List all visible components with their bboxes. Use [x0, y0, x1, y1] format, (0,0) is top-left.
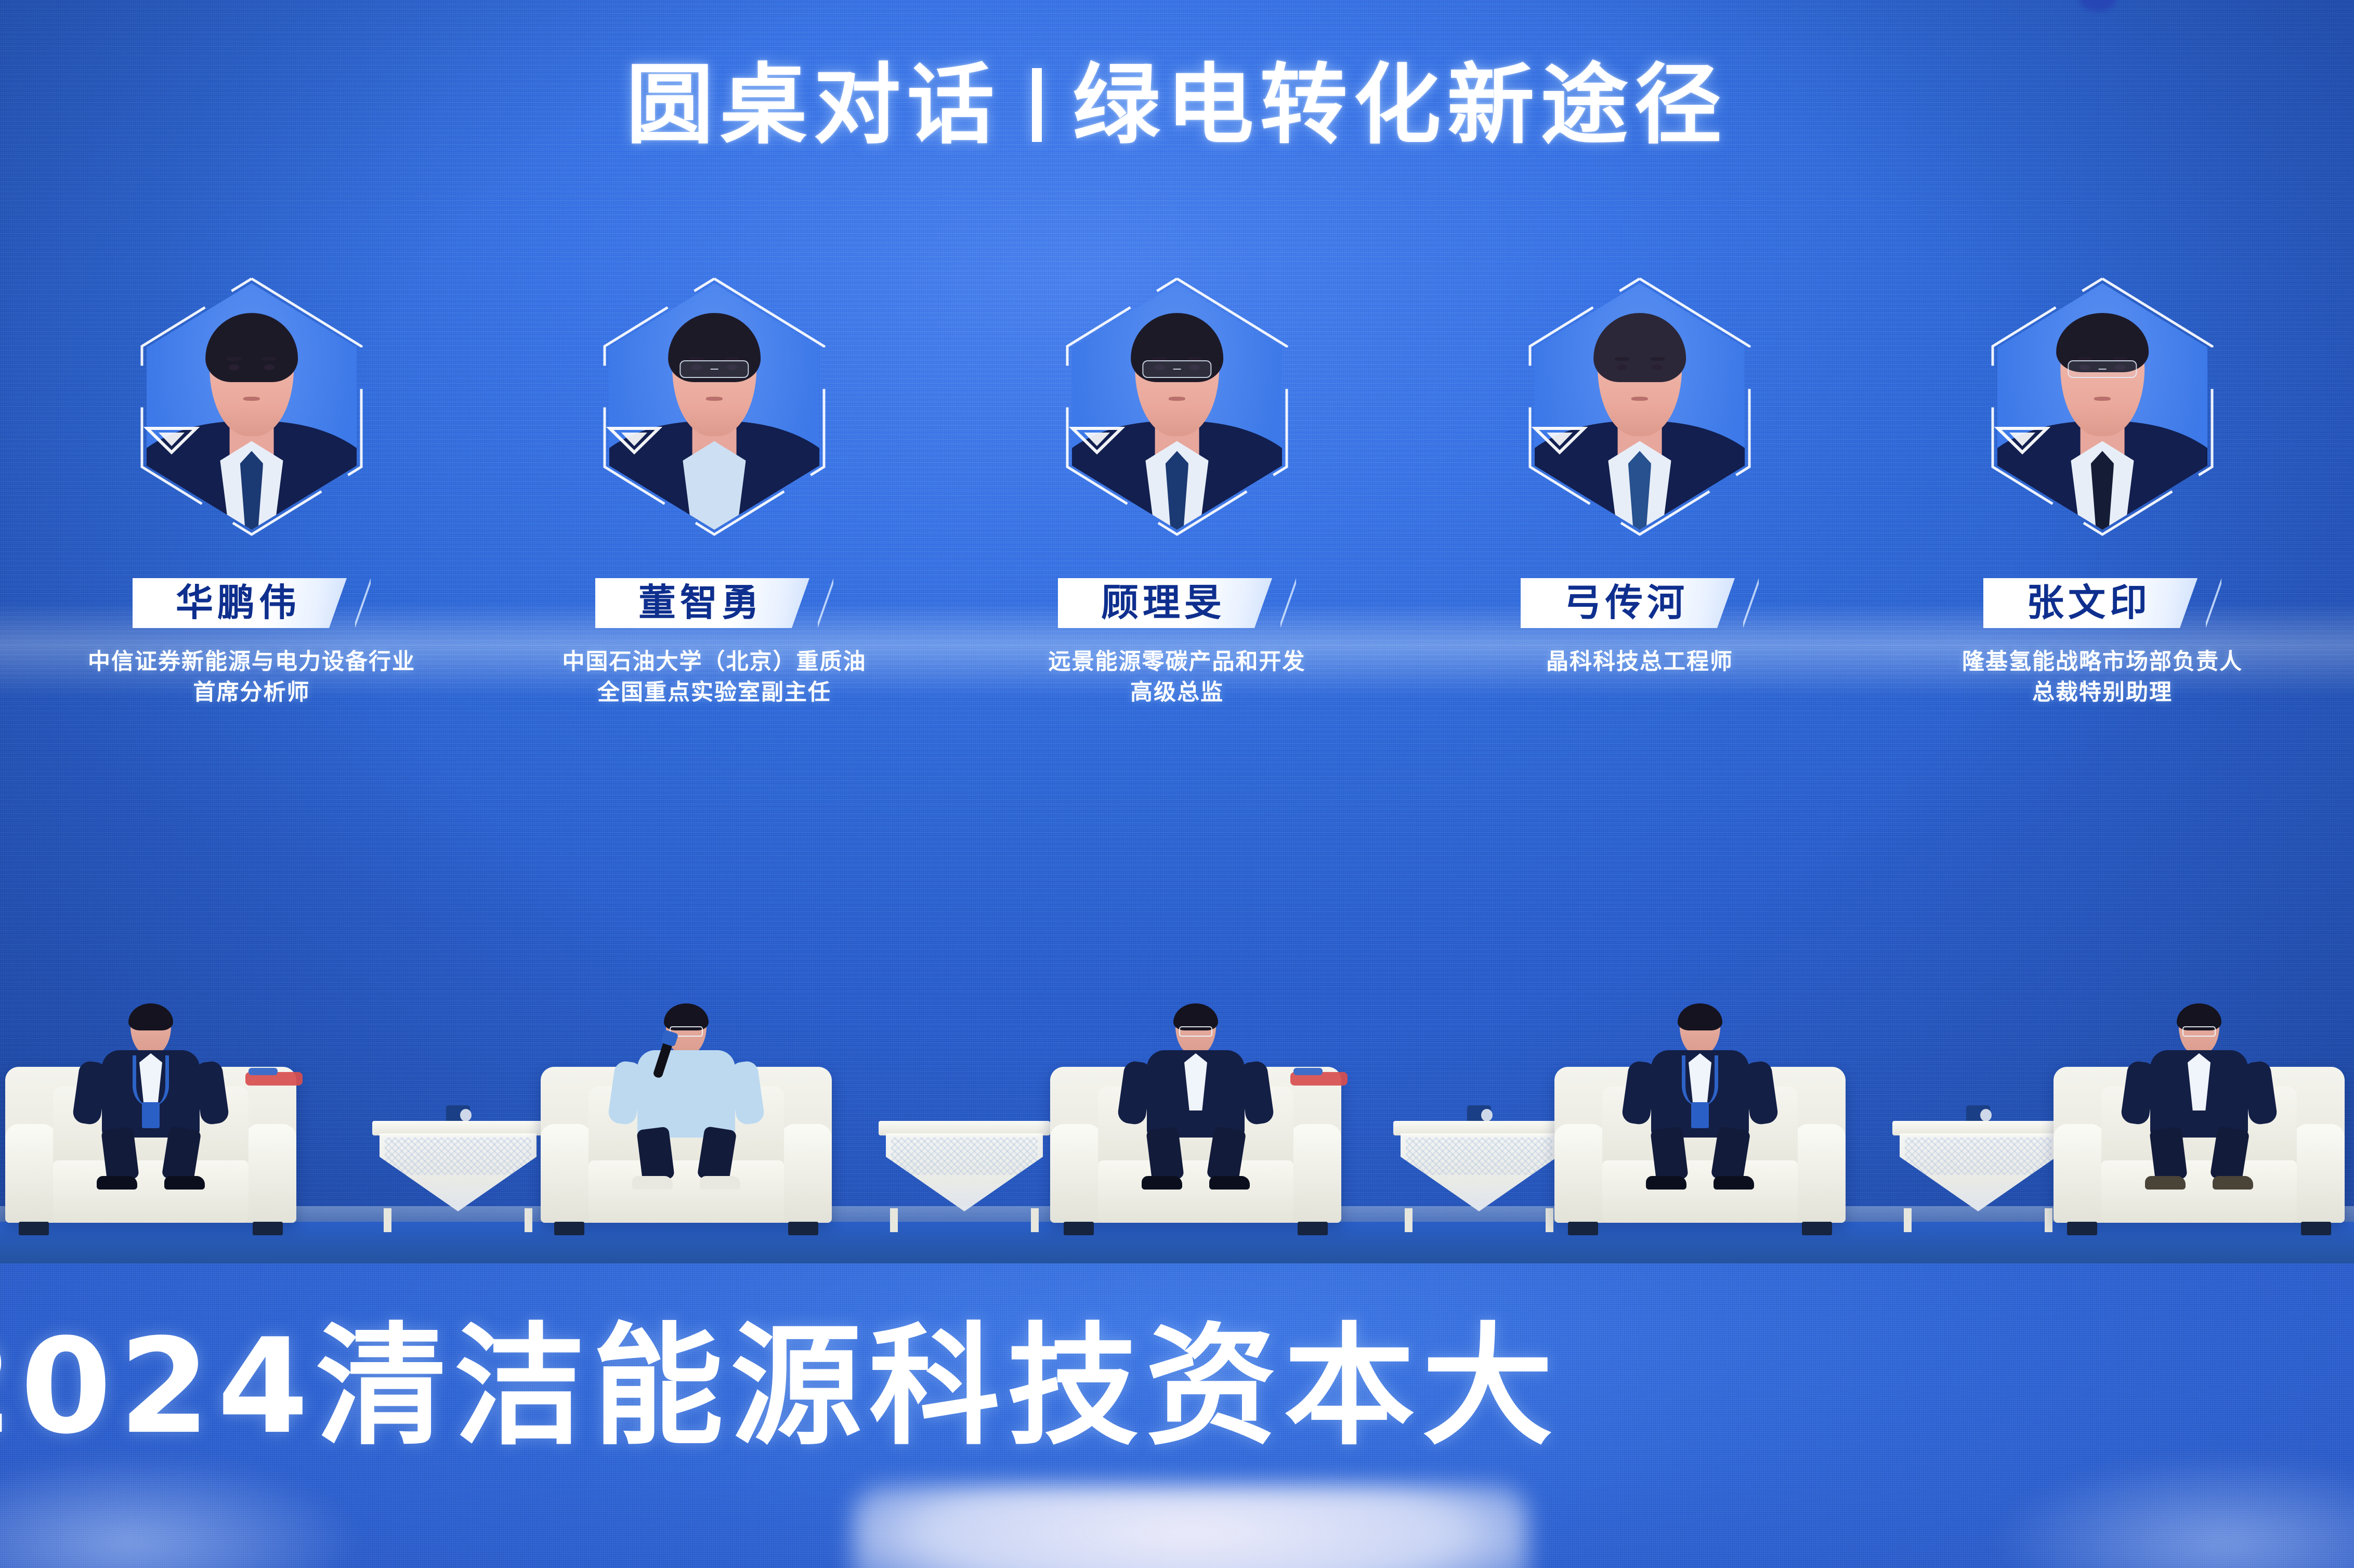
- speaker-card-3: 顾理旻 远景能源零碳产品和开发 高级总监: [946, 235, 1408, 709]
- session-title-sub: 绿电转化新途径: [1073, 61, 1728, 149]
- speaker-org-line1-2: 中国石油大学（北京）重质油: [563, 647, 867, 677]
- speaker-portrait-5: [1944, 235, 2261, 578]
- panelist-seat-2: [541, 1030, 832, 1223]
- speaker-org-line2-2: 全国重点实验室副主任: [563, 677, 867, 708]
- speaker-name-5: 张文印: [2026, 584, 2151, 622]
- panelist-seat-3: [1050, 1030, 1341, 1223]
- session-title-separator-icon: [1032, 68, 1042, 142]
- conference-stage-photo: 圆桌对话 绿电转化新途径: [0, 0, 2354, 1568]
- banner-glow-left: [0, 1454, 364, 1568]
- speaker-org-5: 隆基氢能战略市场部负责人 总裁特别助理: [1962, 647, 2243, 709]
- portrait-photo-4: [1535, 283, 1745, 530]
- speaker-card-2: 董智勇 中国石油大学（北京）重质油 全国重点实验室副主任: [483, 235, 946, 709]
- portrait-photo-5: [1997, 283, 2207, 530]
- speaker-name-4: 弓传河: [1564, 584, 1689, 622]
- nameplate-slash-accent-icon-1: [355, 578, 371, 628]
- speaker-lineup: 华鹏伟 中信证券新能源与电力设备行业 首席分析师: [0, 235, 2354, 709]
- nameplate-slash-accent-icon-4: [1743, 578, 1759, 628]
- side-table-3: [1393, 1121, 1565, 1223]
- panelist-seat-5: [2054, 1030, 2345, 1223]
- speaker-card-5: 张文印 隆基氢能战略市场部负责人 总裁特别助理: [1871, 235, 2334, 709]
- stage-floor: [0, 1222, 2354, 1263]
- speaker-org-line1-1: 中信证券新能源与电力设备行业: [88, 647, 415, 677]
- speaker-nameplate-1: 华鹏伟: [133, 575, 371, 631]
- speaker-portrait-2: [556, 235, 873, 578]
- speaker-name-3: 顾理旻: [1101, 584, 1226, 622]
- speaker-nameplate-2: 董智勇: [595, 575, 833, 631]
- speaker-name-1: 华鹏伟: [176, 584, 300, 622]
- speaker-org-2: 中国石油大学（北京）重质油 全国重点实验室副主任: [563, 647, 867, 709]
- speaker-card-1: 华鹏伟 中信证券新能源与电力设备行业 首席分析师: [20, 235, 483, 709]
- session-title-main: 圆桌对话: [626, 61, 1001, 149]
- panelist-person-5: [2121, 1005, 2277, 1177]
- speaker-card-4: 弓传河 晶科科技总工程师: [1408, 235, 1871, 677]
- side-table-2: [879, 1121, 1050, 1223]
- speaker-org-line1-3: 远景能源零碳产品和开发: [1049, 647, 1306, 677]
- panelist-seat-4: [1554, 1030, 1846, 1223]
- panelist-person-1: [73, 1005, 229, 1177]
- panelist-person-2: [608, 1005, 764, 1177]
- speaker-org-3: 远景能源零碳产品和开发 高级总监: [1049, 647, 1306, 709]
- stage-panel-area: [0, 769, 2354, 1263]
- top-right-dark-blob: [2080, 0, 2116, 11]
- speaker-name-2: 董智勇: [638, 584, 763, 622]
- session-title: 圆桌对话 绿电转化新途径: [0, 61, 2354, 149]
- nameplate-slash-accent-icon-3: [1280, 578, 1296, 628]
- side-table-1: [372, 1121, 544, 1223]
- speaker-org-4: 晶科科技总工程师: [1546, 647, 1733, 677]
- bottom-led-banner: 2024清洁能源科技资本大: [0, 1263, 2354, 1568]
- speaker-org-line1-4: 晶科科技总工程师: [1546, 647, 1733, 677]
- portrait-photo-2: [609, 283, 819, 530]
- sofa-arm-item-3: [1290, 1072, 1348, 1086]
- foreground-blurred-object: [853, 1485, 1528, 1568]
- speaker-nameplate-5: 张文印: [1983, 575, 2221, 631]
- speaker-portrait-4: [1481, 235, 1798, 578]
- panelist-person-4: [1622, 1005, 1778, 1177]
- speaker-org-line2-3: 高级总监: [1049, 677, 1306, 708]
- sofa-arm-item-1: [245, 1072, 303, 1086]
- speaker-portrait-1: [93, 235, 410, 578]
- speaker-org-line2-5: 总裁特别助理: [1962, 677, 2243, 708]
- speaker-nameplate-3: 顾理旻: [1058, 575, 1296, 631]
- speaker-org-line1-5: 隆基氢能战略市场部负责人: [1962, 647, 2243, 677]
- speaker-org-1: 中信证券新能源与电力设备行业 首席分析师: [88, 647, 415, 709]
- nameplate-slash-accent-icon-2: [818, 578, 833, 628]
- speaker-org-line2-1: 首席分析师: [88, 677, 415, 708]
- speaker-nameplate-4: 弓传河: [1521, 575, 1759, 631]
- side-table-4: [1892, 1121, 2064, 1223]
- banner-glow-right: [1990, 1454, 2354, 1568]
- event-name-banner-text: 2024清洁能源科技资本大: [0, 1322, 2354, 1453]
- portrait-photo-1: [147, 283, 357, 530]
- panelist-seat-1: [5, 1030, 296, 1223]
- panelist-person-3: [1118, 1005, 1274, 1177]
- speaker-portrait-3: [1018, 235, 1336, 578]
- nameplate-slash-accent-icon-5: [2206, 578, 2221, 628]
- portrait-photo-3: [1072, 283, 1282, 530]
